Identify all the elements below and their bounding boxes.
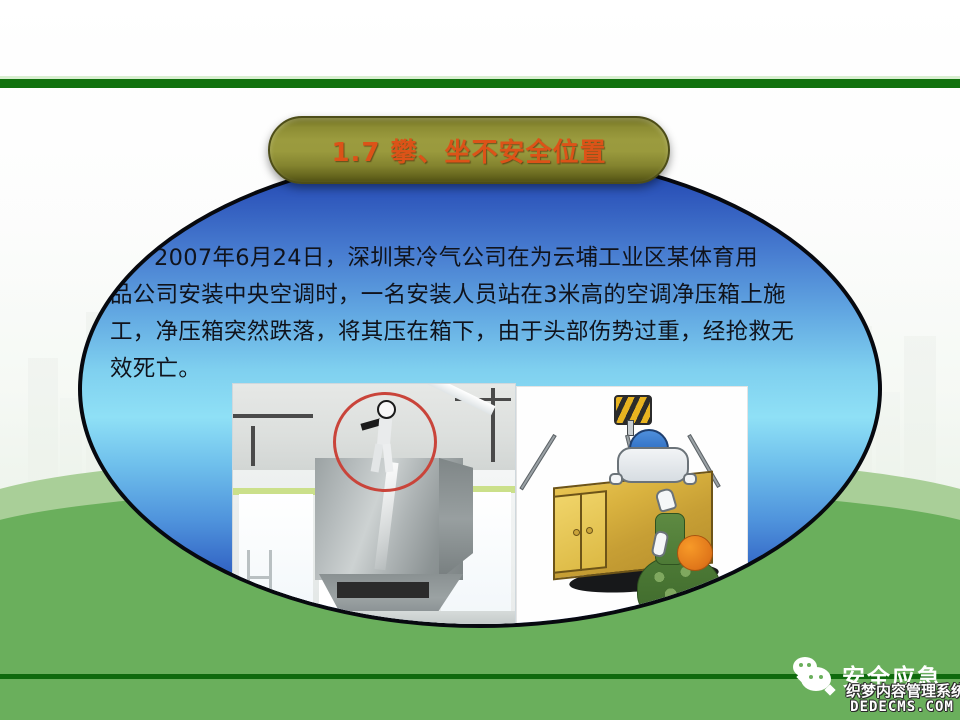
cabinet-knob-right: [586, 527, 593, 534]
photo-plenum-box[interactable]: [232, 383, 516, 626]
case-line-3: 工，净压箱突然跌落，将其压在箱下，由于头部伤势过重，经抢救无: [110, 314, 854, 351]
case-description: 2007年6月24日，深圳某冷气公司在为云埔工业区某体育用 品公司安装中央空调时…: [110, 240, 854, 388]
ceiling-pipe-drop: [251, 426, 255, 466]
sling-left: [519, 434, 556, 490]
rail-left: [247, 550, 250, 614]
illustration-crane-lift[interactable]: [516, 386, 748, 626]
case-line-1: 2007年6月24日，深圳某冷气公司在为云埔工业区某体育用: [110, 240, 854, 277]
case-line-2: 品公司安装中央空调时，一名安装人员站在3米高的空调净压箱上施: [110, 277, 854, 314]
orange-bag-icon: [677, 535, 713, 571]
ground-person-clothing: [637, 555, 721, 623]
slide-title-banner: 1.7 攀、坐不安全位置: [268, 116, 670, 184]
slide-canvas: 2007年6月24日，深圳某冷气公司在为云埔工业区某体育用 品公司安装中央空调时…: [0, 0, 960, 720]
duct-opening: [337, 582, 429, 598]
rider-torso: [617, 447, 689, 483]
wechat-eye-c: [809, 675, 813, 679]
slide-title-text: 1.7 攀、坐不安全位置: [331, 132, 606, 169]
rider-hand-left: [609, 473, 623, 485]
cabinet-door-split: [580, 493, 582, 571]
wechat-eye-a: [799, 663, 803, 667]
rail-right: [269, 550, 272, 614]
floor-band: [233, 611, 515, 625]
window-left: [239, 494, 313, 619]
cabinet-knob-left: [573, 529, 580, 536]
wechat-eye-d: [819, 675, 823, 679]
red-highlight-circle: [333, 392, 437, 492]
footer-brand-label: 安全应急: [842, 658, 942, 692]
content-oval: 2007年6月24日，深圳某冷气公司在为云埔工业区某体育用 品公司安装中央空调时…: [78, 150, 882, 628]
rail-cross: [247, 576, 272, 579]
ceiling-pipe-left: [233, 414, 313, 418]
top-green-bar: [0, 79, 960, 88]
rider-hand-right: [683, 473, 697, 485]
wechat-eye-b: [807, 663, 811, 667]
wechat-logo: [793, 657, 837, 695]
